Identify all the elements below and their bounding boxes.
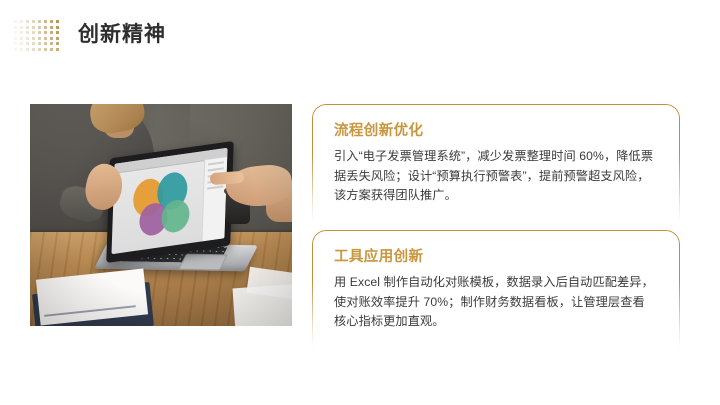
dot-grid-dot — [26, 37, 29, 40]
dot-grid-dot — [56, 42, 59, 45]
dot-grid-dot — [20, 37, 23, 40]
dot-grid-dot — [32, 37, 35, 40]
dot-grid-dot — [14, 48, 17, 51]
dot-grid-dot — [26, 31, 29, 34]
dot-grid-dot — [44, 37, 47, 40]
dot-grid-dot — [38, 31, 41, 34]
dot-grid-dot — [50, 48, 53, 51]
dot-grid-dot — [26, 20, 29, 23]
page-title: 创新精神 — [78, 21, 166, 49]
dot-grid-dot — [14, 37, 17, 40]
info-card-process-innovation: 流程创新优化 引入“电子发票管理系统”，减少发票整理时间 60%，降低票据丢失风… — [312, 104, 678, 222]
dot-grid-dot — [20, 26, 23, 29]
dot-grid-dot — [20, 42, 23, 45]
dot-grid-dot — [26, 42, 29, 45]
info-card-tool-innovation: 工具应用创新 用 Excel 制作自动化对账模板，数据录入后自动匹配差异，使对账… — [312, 230, 678, 348]
dot-grid-dot — [56, 20, 59, 23]
dot-grid-dot — [44, 48, 47, 51]
card-body-text: 用 Excel 制作自动化对账模板，数据录入后自动匹配差异，使对账效率提升 70… — [334, 273, 656, 332]
dot-grid-dot — [32, 20, 35, 23]
dot-grid-dot — [20, 31, 23, 34]
card-body-text: 引入“电子发票管理系统”，减少发票整理时间 60%，降低票据丢失风险；设计“预算… — [334, 147, 656, 206]
dot-grid-dot — [44, 42, 47, 45]
photo-vignette — [30, 104, 292, 326]
dot-grid-dot — [38, 42, 41, 45]
dot-grid-dot — [32, 48, 35, 51]
dot-grid-dot — [44, 26, 47, 29]
dot-grid-dot — [26, 48, 29, 51]
dot-grid-dot — [32, 31, 35, 34]
dot-grid-dot — [20, 48, 23, 51]
dot-grid-dot — [38, 37, 41, 40]
dot-grid-dot — [14, 31, 17, 34]
card-heading: 工具应用创新 — [334, 248, 656, 267]
dot-grid-dot — [38, 26, 41, 29]
card-content: 流程创新优化 引入“电子发票管理系统”，减少发票整理时间 60%，降低票据丢失风… — [312, 104, 678, 206]
slide-canvas: 创新精神 — [0, 0, 720, 405]
dot-grid-dot — [50, 31, 53, 34]
dot-grid-dot — [50, 20, 53, 23]
dot-grid-dot — [20, 20, 23, 23]
dot-grid-dot — [32, 26, 35, 29]
card-heading: 流程创新优化 — [334, 122, 656, 141]
dot-grid-dot — [50, 26, 53, 29]
dot-grid-dot — [14, 26, 17, 29]
dot-grid-dot — [56, 48, 59, 51]
dot-grid-dot — [56, 37, 59, 40]
dot-grid-dot — [26, 26, 29, 29]
dot-grid-dot — [56, 31, 59, 34]
dot-grid-dot — [50, 42, 53, 45]
dot-grid-dot — [14, 42, 17, 45]
illustration-photo — [30, 104, 292, 326]
dot-grid-decoration — [14, 20, 62, 53]
dot-grid-dot — [38, 48, 41, 51]
dot-grid-dot — [44, 20, 47, 23]
dot-grid-dot — [50, 37, 53, 40]
card-content: 工具应用创新 用 Excel 制作自动化对账模板，数据录入后自动匹配差异，使对账… — [312, 230, 678, 332]
dot-grid-dot — [38, 20, 41, 23]
dot-grid-dot — [44, 31, 47, 34]
dot-grid-dot — [32, 42, 35, 45]
dot-grid-dot — [14, 20, 17, 23]
dot-grid-dot — [56, 26, 59, 29]
